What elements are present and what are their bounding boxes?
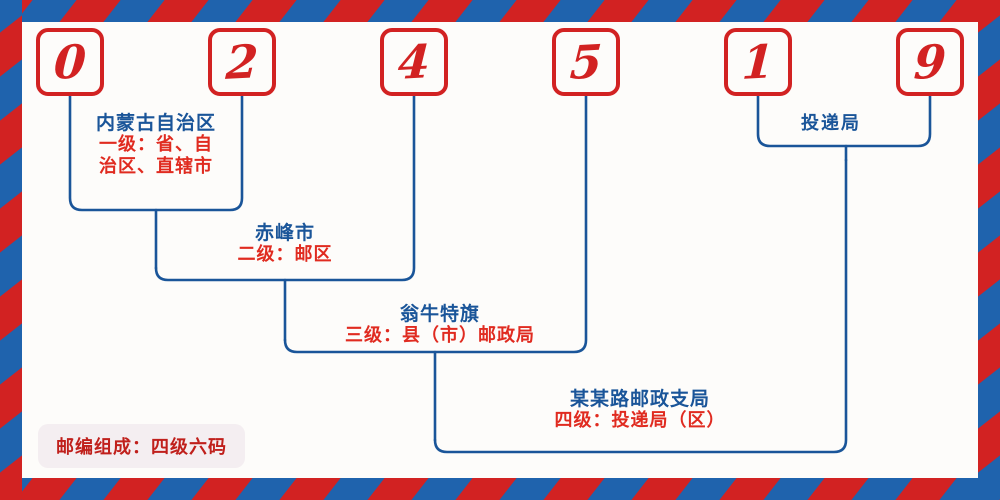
postcode-diagram: 0 2 4 5 1 9 内蒙古自治区 一级：省、自 治区、直辖市 赤峰市 二级：… xyxy=(0,0,1000,500)
label-level-2-title: 赤峰市 xyxy=(170,222,400,244)
label-level-3-sub: 三级：县（市）邮政局 xyxy=(300,325,580,346)
label-level-4-sub: 四级：投递局（区） xyxy=(450,410,830,431)
digit-box-4[interactable]: 5 xyxy=(552,28,620,96)
digit-box-3[interactable]: 4 xyxy=(380,28,448,96)
label-level-1-sub-line1: 一级：省、自 xyxy=(76,134,236,155)
digit-value-5: 1 xyxy=(741,38,776,86)
label-level-4-title: 某某路邮政支局 xyxy=(450,388,830,410)
label-delivery-office: 投递局 xyxy=(801,109,861,135)
label-level-2-sub: 二级：邮区 xyxy=(170,244,400,265)
label-level-1-sub-line2: 治区、直辖市 xyxy=(76,156,236,177)
label-level-4: 某某路邮政支局 四级：投递局（区） xyxy=(450,388,830,432)
status-badge: 邮编组成：四级六码 xyxy=(38,424,245,468)
digit-value-1: 0 xyxy=(53,38,88,86)
label-level-1-title: 内蒙古自治区 xyxy=(76,112,236,134)
label-level-2: 赤峰市 二级：邮区 xyxy=(170,222,400,266)
label-level-3-title: 翁牛特旗 xyxy=(300,303,580,325)
digit-box-1[interactable]: 0 xyxy=(36,28,104,96)
digit-value-3: 4 xyxy=(397,38,432,86)
digit-value-2: 2 xyxy=(225,38,260,86)
label-level-3: 翁牛特旗 三级：县（市）邮政局 xyxy=(300,303,580,347)
digit-box-6[interactable]: 9 xyxy=(896,28,964,96)
label-level-1: 内蒙古自治区 一级：省、自 治区、直辖市 xyxy=(76,112,236,177)
digit-value-6: 9 xyxy=(913,38,948,86)
digit-box-5[interactable]: 1 xyxy=(724,28,792,96)
digit-box-2[interactable]: 2 xyxy=(208,28,276,96)
digit-value-4: 5 xyxy=(569,38,604,86)
